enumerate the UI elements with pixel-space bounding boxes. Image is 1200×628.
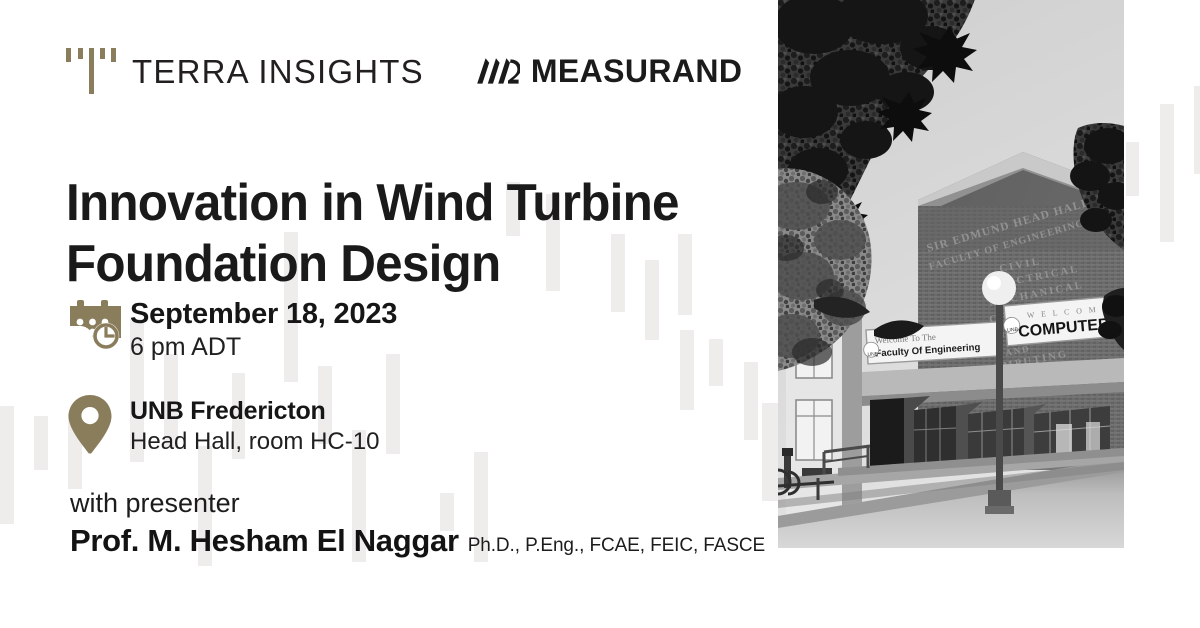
terra-insights-logo[interactable]: TERRA INSIGHTS (66, 48, 424, 94)
background-bar (1126, 142, 1139, 196)
svg-text:UNB: UNB (1007, 327, 1019, 334)
presenter-credentials: Ph.D., P.Eng., FCAE, FEIC, FASCE (468, 535, 765, 557)
measurand-logo[interactable]: MEASURAND (476, 55, 743, 87)
event-venue: UNB Fredericton (130, 396, 379, 427)
event-time: 6 pm ADT (130, 332, 397, 363)
background-bar (1194, 86, 1200, 174)
terra-insights-bars-mark (66, 48, 116, 94)
presenter-name: Prof. M. Hesham El Naggar (70, 523, 459, 559)
measurand-wordmark: MEASURAND (531, 55, 743, 87)
measurand-m-mark (476, 56, 531, 86)
event-location-text: UNB Fredericton Head Hall, room HC-10 (130, 395, 379, 457)
presenter-lead-label: with presenter (70, 487, 765, 519)
event-location-row: UNB Fredericton Head Hall, room HC-10 (68, 395, 379, 457)
event-date-text: September 18, 2023 6 pm ADT (130, 296, 397, 364)
event-date: September 18, 2023 (130, 297, 397, 332)
logo-row: TERRA INSIGHTS MEASURAND (66, 48, 742, 94)
page-title-line-2: Foundation Design (66, 234, 722, 295)
page-title: Innovation in Wind Turbine Foundation De… (66, 173, 722, 295)
map-pin-icon (68, 395, 130, 457)
page-title-line-1: Innovation in Wind Turbine (66, 173, 722, 234)
event-date-row: September 18, 2023 6 pm ADT (68, 296, 397, 364)
background-bar (1160, 104, 1174, 242)
svg-text:UNB: UNB (867, 351, 879, 358)
head-hall-building-photo: SIR EDMUND HEAD HALL FACULTY OF ENGINEER… (778, 0, 1124, 548)
event-room: Head Hall, room HC-10 (130, 427, 379, 457)
background-bar (34, 416, 48, 470)
background-bar (680, 330, 694, 410)
presenter-name-line: Prof. M. Hesham El Naggar Ph.D., P.Eng.,… (70, 523, 765, 559)
background-bar (386, 354, 400, 454)
background-bar (744, 362, 758, 440)
background-bar (0, 406, 14, 524)
calendar-clock-icon (68, 296, 130, 352)
event-announcement-poster: TERRA INSIGHTS MEASURAND Innovation in W… (0, 0, 1200, 628)
presenter-block: with presenter Prof. M. Hesham El Naggar… (70, 487, 765, 559)
background-bar (709, 339, 723, 386)
terra-insights-wordmark: TERRA INSIGHTS (132, 55, 424, 88)
